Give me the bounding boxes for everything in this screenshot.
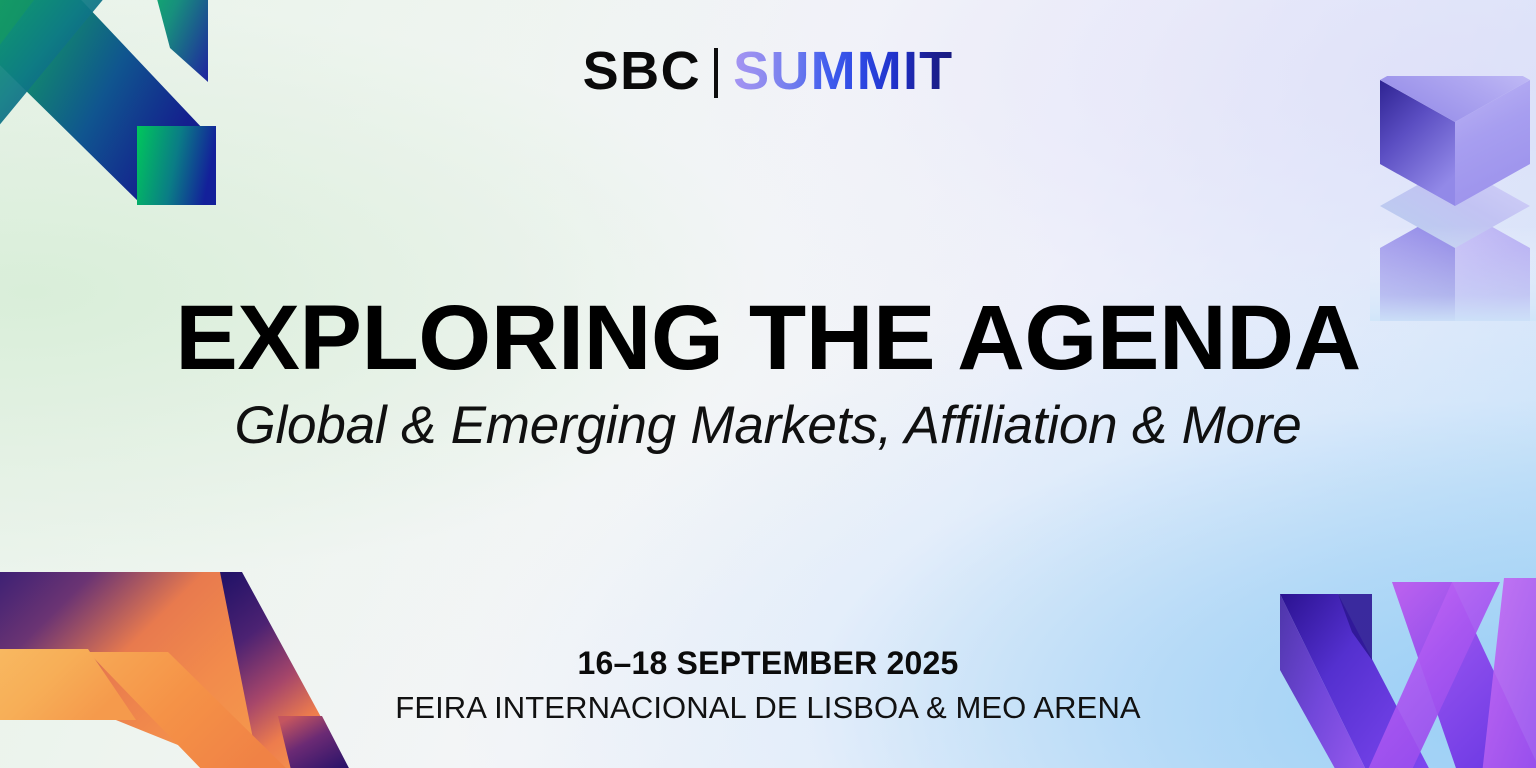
logo-divider — [714, 48, 718, 98]
green-blue-arrow-graphic — [0, 0, 244, 230]
hero-text-block: EXPLORING THE AGENDA Global & Emerging M… — [0, 292, 1536, 454]
page-subtitle: Global & Emerging Markets, Affiliation &… — [0, 398, 1536, 454]
event-promo-banner: SBCSUMMIT EXPLORING THE AGENDA Global & … — [0, 0, 1536, 768]
logo-brand-text: SBC — [583, 41, 702, 101]
event-venue: FEIRA INTERNACIONAL DE LISBOA & MEO AREN… — [0, 690, 1536, 726]
page-title: EXPLORING THE AGENDA — [0, 292, 1536, 384]
logo-product-text: SUMMIT — [733, 41, 953, 101]
sbc-summit-logo: SBCSUMMIT — [0, 44, 1536, 98]
stacked-cubes-graphic — [1370, 76, 1536, 321]
event-details-block: 16–18 SEPTEMBER 2025 FEIRA INTERNACIONAL… — [0, 645, 1536, 726]
event-dates: 16–18 SEPTEMBER 2025 — [0, 645, 1536, 682]
